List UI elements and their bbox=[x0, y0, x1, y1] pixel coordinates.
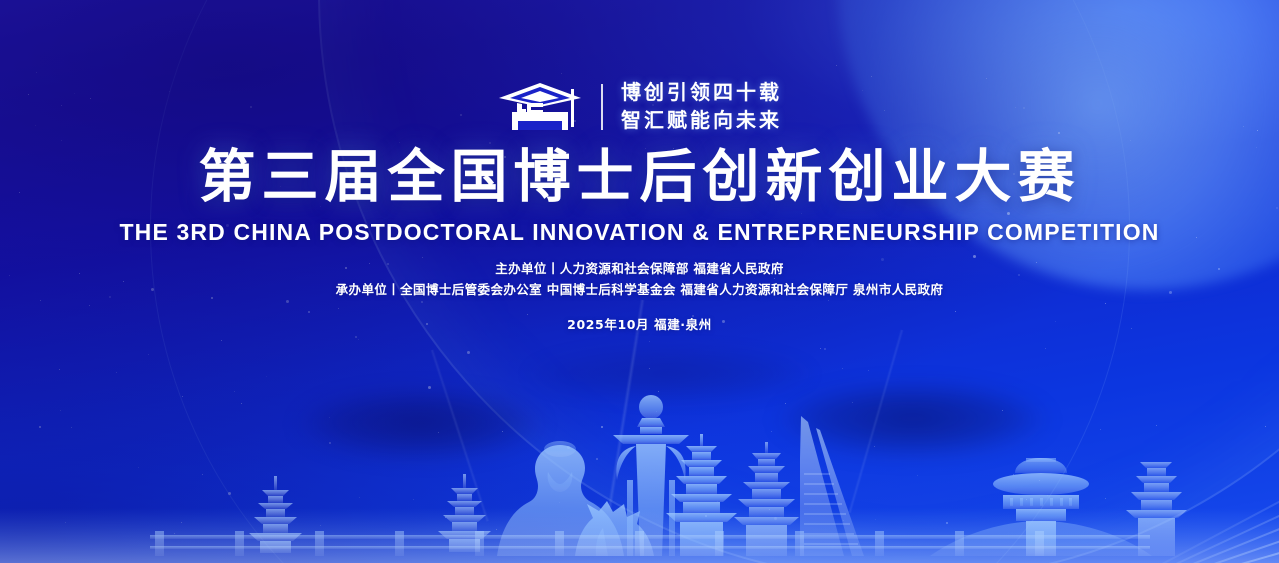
poster-content: 博创引领四十载 智汇赋能向未来 第三届全国博士后创新创业大赛 THE 3RD C… bbox=[0, 0, 1279, 563]
logo-lockup: 博创引领四十载 智汇赋能向未来 bbox=[0, 80, 1279, 133]
logo-slogan: 博创引领四十载 智汇赋能向未来 bbox=[621, 80, 782, 133]
logo-divider bbox=[601, 84, 603, 130]
graduation-cap-logo-icon bbox=[497, 81, 583, 133]
slogan-line-2: 智汇赋能向未来 bbox=[621, 108, 782, 133]
slogan-line-1: 博创引领四十载 bbox=[621, 80, 782, 105]
date-location-line: 2025年10月 福建·泉州 bbox=[0, 314, 1279, 333]
poster-canvas: 博创引领四十载 智汇赋能向未来 第三届全国博士后创新创业大赛 THE 3RD C… bbox=[0, 0, 1279, 563]
main-title-chinese: 第三届全国博士后创新创业大赛 bbox=[0, 148, 1279, 208]
main-title-english: THE 3RD CHINA POSTDOCTORAL INNOVATION & … bbox=[0, 219, 1279, 246]
organizer-line-host: 主办单位丨人力资源和社会保障部 福建省人民政府 bbox=[0, 258, 1279, 279]
organizer-block: 主办单位丨人力资源和社会保障部 福建省人民政府 承办单位丨全国博士后管委会办公室… bbox=[0, 258, 1279, 300]
organizer-line-coorganizer: 承办单位丨全国博士后管委会办公室 中国博士后科学基金会 福建省人力资源和社会保障… bbox=[0, 279, 1279, 300]
